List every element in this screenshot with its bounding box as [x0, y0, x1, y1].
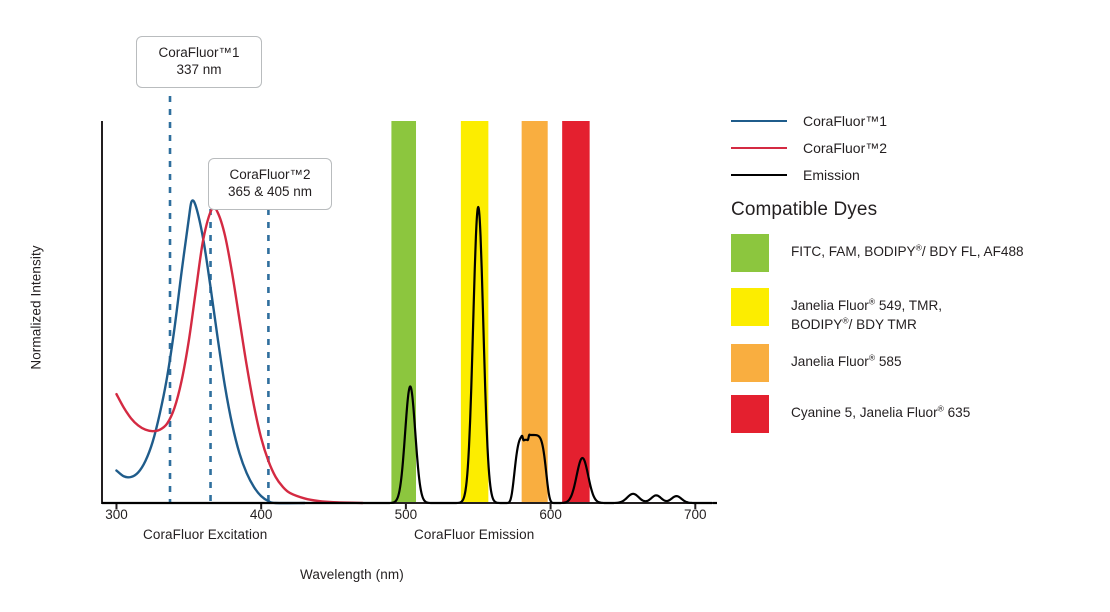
dye-label: Janelia Fluor® 585 [791, 344, 902, 372]
legend-series-row: CoraFluor™1 [731, 113, 887, 129]
compatible-dye-row: FITC, FAM, BODIPY®/ BDY FL, AF488 [731, 234, 1024, 272]
dye-label-line: Cyanine 5, Janelia Fluor® 635 [791, 404, 970, 423]
emission-band-red-band [562, 121, 589, 503]
dye-color-swatch [731, 288, 769, 326]
legend-series-row: CoraFluor™2 [731, 140, 887, 156]
compatible-dye-row: Janelia Fluor® 549, TMR,BODIPY®/ BDY TMR [731, 288, 942, 335]
x-tick-label: 700 [684, 507, 707, 522]
dye-label-line: BODIPY®/ BDY TMR [791, 316, 942, 335]
legend-line-swatch [731, 147, 787, 149]
excitation-section-label: CoraFluor Excitation [143, 527, 267, 542]
emission-band-yellow-band [461, 121, 488, 503]
y-axis-title: Normalized Intensity [29, 228, 44, 388]
compatible-dye-row: Cyanine 5, Janelia Fluor® 635 [731, 395, 970, 433]
dye-label-line: FITC, FAM, BODIPY®/ BDY FL, AF488 [791, 243, 1024, 262]
dye-label: FITC, FAM, BODIPY®/ BDY FL, AF488 [791, 234, 1024, 262]
dye-label-line: Janelia Fluor® 585 [791, 353, 902, 372]
legend-line-swatch [731, 120, 787, 122]
dye-label: Janelia Fluor® 549, TMR,BODIPY®/ BDY TMR [791, 288, 942, 335]
curve-excitation-d42a42 [116, 207, 362, 503]
dye-color-swatch [731, 234, 769, 272]
callout-2-line2: 365 & 405 nm [221, 183, 319, 200]
legend-line-swatch [731, 174, 787, 176]
x-tick-label: 500 [395, 507, 418, 522]
legend-panel: CoraFluor™1CoraFluor™2Emission Compatibl… [731, 0, 1110, 612]
x-axis-title: Wavelength (nm) [300, 567, 404, 582]
emission-section-label: CoraFluor Emission [414, 527, 534, 542]
callout-corafluor-2: CoraFluor™2 365 & 405 nm [208, 158, 332, 210]
x-tick-label: 300 [105, 507, 128, 522]
dye-label-line: Janelia Fluor® 549, TMR, [791, 297, 942, 316]
x-tick-label: 600 [539, 507, 562, 522]
legend-series-label: Emission [803, 167, 860, 183]
callout-1-line1: CoraFluor™1 [149, 44, 249, 61]
dye-label: Cyanine 5, Janelia Fluor® 635 [791, 395, 970, 423]
spectral-plot: Normalized Intensity Wavelength (nm) Cor… [0, 0, 730, 612]
dye-color-swatch [731, 395, 769, 433]
legend-series-row: Emission [731, 167, 860, 183]
compatible-dyes-title: Compatible Dyes [731, 199, 877, 221]
compatible-dye-row: Janelia Fluor® 585 [731, 344, 902, 382]
dye-color-swatch [731, 344, 769, 382]
callout-1-line2: 337 nm [149, 61, 249, 78]
callout-2-line1: CoraFluor™2 [221, 166, 319, 183]
callout-corafluor-1: CoraFluor™1 337 nm [136, 36, 262, 88]
legend-series-label: CoraFluor™1 [803, 113, 887, 129]
legend-series-label: CoraFluor™2 [803, 140, 887, 156]
emission-band-orange-band [522, 121, 548, 503]
x-tick-label: 400 [250, 507, 273, 522]
